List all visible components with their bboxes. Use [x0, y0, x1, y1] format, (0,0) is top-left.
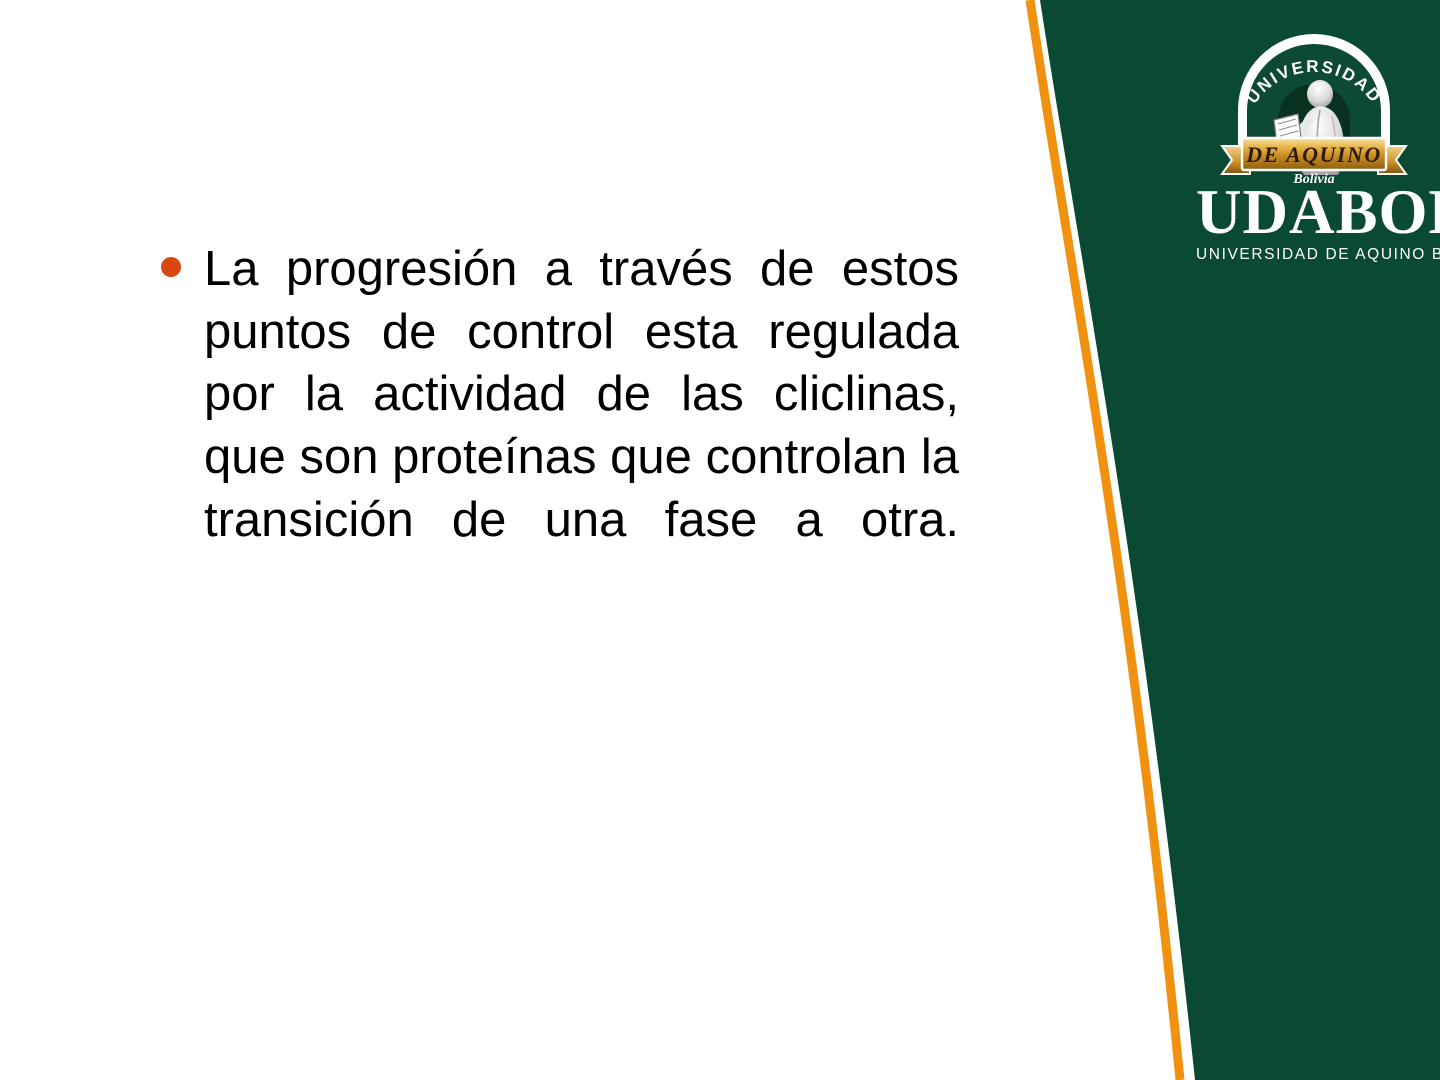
- udabol-crest-icon: UNIVERSIDAD: [1216, 34, 1412, 184]
- bullet-paragraph: La progresión a través de estos puntos d…: [204, 238, 959, 614]
- slide-canvas: UNIVERSIDAD: [0, 0, 1440, 1080]
- bullet-item: La progresión a través de estos puntos d…: [152, 238, 962, 614]
- orange-curve-shape: [1030, 0, 1180, 1080]
- slide-content: La progresión a través de estos puntos d…: [152, 238, 962, 614]
- udabol-logo: UNIVERSIDAD: [1196, 34, 1432, 252]
- udabol-wordmark: UDABOL UNIVERSIDAD DE AQUINO BOLIVIA: [1196, 182, 1432, 264]
- bullet-dot-icon: [161, 257, 181, 277]
- wordmark-text: UDABOL: [1196, 182, 1432, 244]
- wordmark-subtitle: UNIVERSIDAD DE AQUINO BOLIVIA: [1196, 246, 1432, 264]
- ribbon-label: DE AQUINO: [1245, 142, 1382, 167]
